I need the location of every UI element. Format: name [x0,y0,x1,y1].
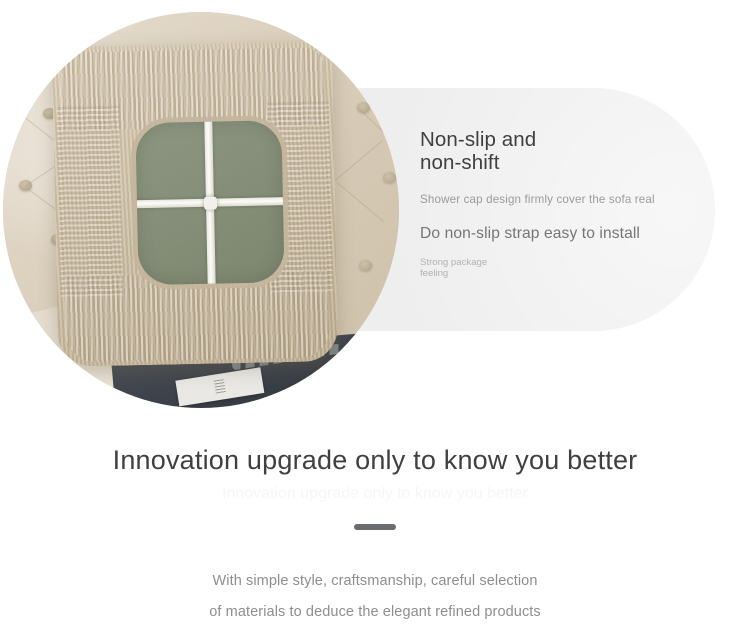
headline-ghost-echo: Innovation upgrade only to know you bett… [0,484,750,504]
panel-heading: Non-slip and non-shift [420,128,720,174]
green-cushion [135,120,284,285]
tufting-button [359,260,372,271]
sofa-seat-cover [52,41,339,367]
product-banner: Non-slip and non-shift Shower cap design… [0,0,750,634]
product-photo[interactable] [3,12,399,408]
strap-buckle-icon [203,196,216,209]
panel-subtext-1: Shower cap design firmly cover the sofa … [420,193,720,207]
ruche-left [57,106,123,297]
panel-subtext-2: Do non-slip strap easy to install [420,224,720,243]
page-subcopy: With simple style, craftsmanship, carefu… [0,566,750,628]
section-divider [354,524,396,530]
tufting-button [383,172,396,183]
packaging-label-text [214,379,226,393]
subcopy-line-2: of materials to deduce the elegant refin… [0,597,750,628]
info-panel-text: Non-slip and non-shift Shower cap design… [420,128,720,279]
page-headline: Innovation upgrade only to know you bett… [0,443,750,477]
packaging-label [175,367,264,406]
subcopy-line-1: With simple style, craftsmanship, carefu… [0,566,750,597]
panel-subtext-3: Strong package feeling [420,257,720,279]
